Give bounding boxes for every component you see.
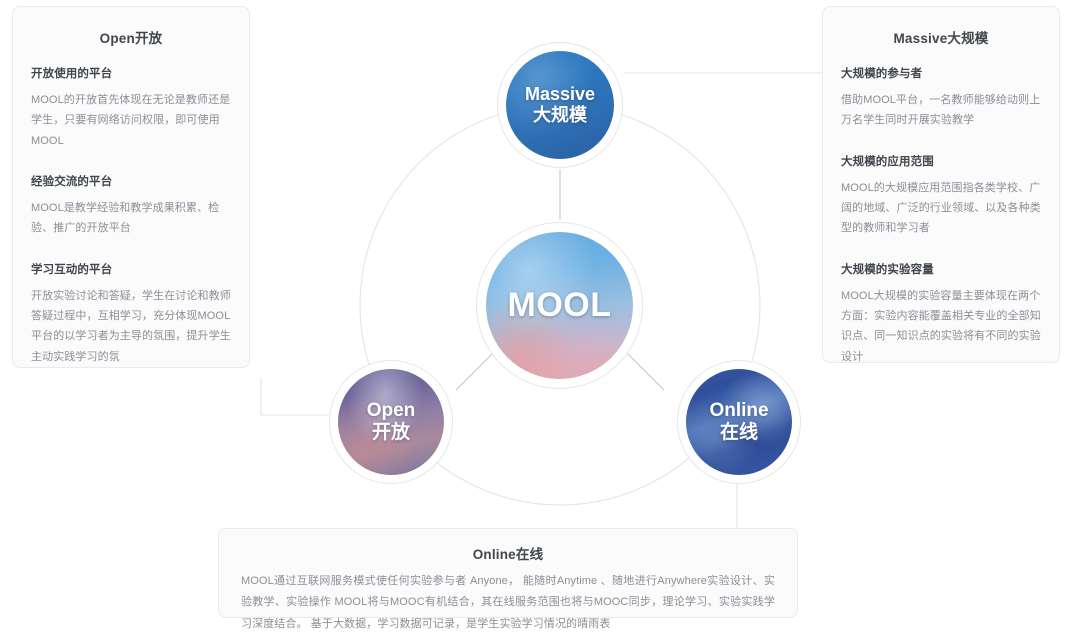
node-open-face: Open 开放	[338, 369, 444, 475]
panel-open-section-0-head: 开放使用的平台	[31, 65, 231, 81]
panel-massive-section-1-head: 大规模的应用范围	[841, 153, 1041, 169]
panel-massive-section-0-body: 借助MOOL平台，一名教师能够给动则上万名学生同时开展实验教学	[841, 90, 1041, 131]
spoke-center-online	[626, 352, 664, 390]
panel-massive-section-1-body: MOOL的大规模应用范围指各类学校、广阔的地域、广泛的行业领域、以及各种类型的教…	[841, 178, 1041, 239]
node-center-mool-label: MOOL	[508, 285, 612, 325]
panel-online: Online在线 MOOL通过互联网服务模式使任何实验参与者 Anyone， 能…	[218, 528, 798, 618]
mool-concept-diagram: Open开放 开放使用的平台 MOOL的开放首先体现在无论是教师还是学生，只要有…	[0, 0, 1080, 625]
node-online[interactable]: Online 在线	[678, 361, 800, 483]
node-open-label-cn: 开放	[372, 422, 410, 444]
node-open[interactable]: Open 开放	[330, 361, 452, 483]
panel-open-title: Open开放	[31, 27, 231, 47]
panel-massive-section-0-head: 大规模的参与者	[841, 65, 1041, 81]
node-massive[interactable]: Massive 大规模	[498, 43, 622, 167]
node-center-mool[interactable]: MOOL	[477, 223, 642, 388]
panel-open-section-2-head: 学习互动的平台	[31, 261, 231, 277]
panel-open-section-1-head: 经验交流的平台	[31, 173, 231, 189]
node-online-label-cn: 在线	[720, 422, 758, 444]
spoke-center-open	[456, 352, 494, 390]
node-online-face: Online 在线	[686, 369, 792, 475]
node-massive-face: Massive 大规模	[506, 51, 614, 159]
node-open-label-en: Open	[367, 400, 416, 422]
panel-open: Open开放 开放使用的平台 MOOL的开放首先体现在无论是教师还是学生，只要有…	[12, 6, 250, 368]
panel-massive: Massive大规模 大规模的参与者 借助MOOL平台，一名教师能够给动则上万名…	[822, 6, 1060, 363]
panel-massive-section-2-head: 大规模的实验容量	[841, 261, 1041, 277]
node-center-mool-face: MOOL	[486, 232, 633, 379]
node-massive-label-en: Massive	[525, 84, 595, 105]
panel-open-section-1-body: MOOL是教学经验和教学成果积累、检验、推广的开放平台	[31, 198, 231, 239]
node-massive-label-cn: 大规模	[533, 105, 587, 126]
panel-open-section-2-body: 开放实验讨论和答疑，学生在讨论和教师答疑过程中，互相学习，充分体现MOOL平台的…	[31, 286, 231, 367]
node-online-label-en: Online	[709, 400, 768, 422]
panel-online-section-0-body: MOOL通过互联网服务模式使任何实验参与者 Anyone， 能随时Anytime…	[241, 571, 775, 635]
panel-online-title: Online在线	[241, 543, 775, 563]
panel-open-section-0-body: MOOL的开放首先体现在无论是教师还是学生，只要有网络访问权限，即可使用MOOL	[31, 90, 231, 151]
panel-massive-title: Massive大规模	[841, 27, 1041, 47]
panel-massive-section-2-body: MOOL大规模的实验容量主要体现在两个方面：实验内容能覆盖相关专业的全部知识点、…	[841, 286, 1041, 367]
leader-open-panel	[261, 378, 332, 415]
